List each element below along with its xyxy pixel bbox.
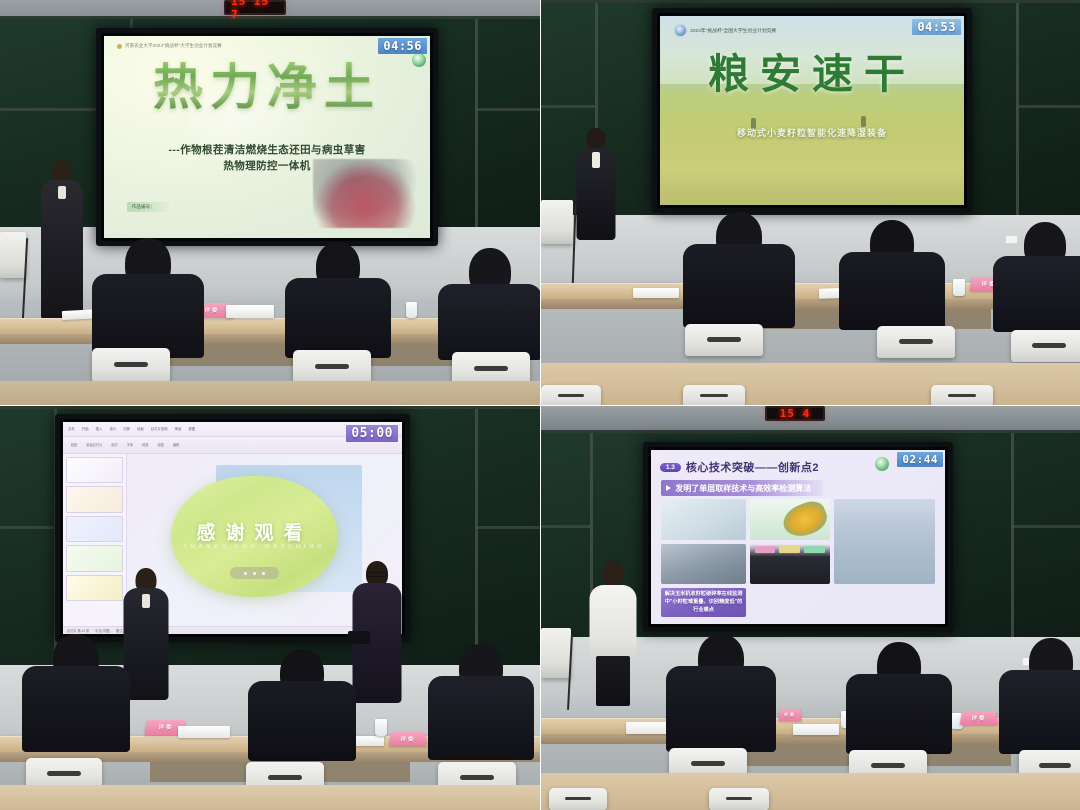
projection-screen: 1.3 核心技术突破——创新点2 发明了单层取样技术与高效率检测算法: [643, 442, 953, 632]
ppt-ribbon-item-2[interactable]: 版式: [111, 442, 117, 447]
countdown-timer: 05:00: [346, 425, 398, 442]
countdown-timer-value: 04:56: [383, 39, 422, 53]
presenter-collar: [142, 594, 150, 608]
slide-image-machine-detail: [661, 544, 745, 585]
presenter-body: [41, 180, 83, 320]
wall-clock-value: 15 15 7: [231, 0, 279, 21]
slide-thumbnail[interactable]: [66, 457, 123, 484]
presenter-body: [590, 585, 637, 661]
documents-stack-2: [793, 724, 839, 735]
slide-content: 2024年"挑战杯"全国大学生创业计划竞赛 粮安速干 移动式小麦籽粒智能化速降湿…: [660, 16, 964, 205]
color-swatch-row: [755, 546, 826, 553]
work-code-badge: 作品编号：: [127, 202, 169, 212]
audience-body: [993, 256, 1080, 332]
slide-header: 1.3 核心技术突破——创新点2: [660, 457, 936, 478]
pill-dot-icon: [262, 572, 265, 575]
judge-name-card-text: 评委: [158, 723, 174, 730]
ppt-status-notes[interactable]: 备注: [116, 628, 122, 633]
slide-subtitle-line1: ---作物根茬清洁燃烧生态还田与病虫草害: [124, 143, 411, 159]
slide-bullet-banner: 发明了单层取样技术与高效率检测算法: [661, 480, 823, 496]
ppt-menu-item-6[interactable]: 幻灯片放映: [151, 426, 168, 431]
slide-thumbnail[interactable]: [66, 486, 123, 513]
chair-front-1: [549, 788, 607, 810]
countdown-timer-value: 05:00: [351, 426, 393, 441]
slide-title: 核心技术突破——创新点2: [686, 459, 819, 475]
machine-photo: [313, 159, 417, 228]
slide-thumbnail[interactable]: [66, 575, 123, 602]
chair-3: [1011, 330, 1080, 362]
countdown-timer: 04:56: [378, 38, 427, 54]
ppt-menu-item-5[interactable]: 动画: [137, 426, 144, 431]
ppt-menu-item-4[interactable]: 切换: [123, 426, 130, 431]
slide-image-corn-sample: [750, 499, 830, 540]
audience-member-1: [666, 634, 776, 752]
slide-header-text: 2024年"挑战杯"全国大学生创业计划竞赛: [690, 27, 776, 34]
front-desk-surface: [0, 785, 540, 810]
ppt-ribbon-item-3[interactable]: 字体: [127, 442, 133, 447]
audience-member-1: [683, 212, 795, 328]
audience-body: [839, 252, 945, 330]
presenter-female: [40, 160, 84, 320]
ppt-status-language: 中文(中国): [95, 628, 110, 633]
decorative-pill: [230, 567, 279, 579]
audience-body: [248, 681, 356, 761]
presenter-female: [589, 561, 637, 706]
corn-cob-illustration: [779, 499, 831, 540]
audience-body: [666, 666, 776, 752]
ppt-ribbon-item-5[interactable]: 绘图: [157, 442, 163, 447]
thank-you-card: 感谢观看 THANKS FOR WATCHING: [163, 471, 366, 608]
slide-title: 热力净土: [124, 62, 411, 112]
competition-emblem-icon: [675, 25, 686, 36]
presenter-head: [603, 561, 624, 586]
handheld-device: [348, 631, 370, 644]
judge-name-card-text: 评委: [204, 306, 220, 313]
slide-thumbnail[interactable]: [66, 545, 123, 572]
chair-1: [685, 324, 763, 356]
pill-dot-icon: [253, 572, 256, 575]
paper-cup: [375, 719, 387, 736]
podium: [0, 232, 26, 278]
wall-clock-value: 15 4: [780, 407, 811, 420]
ppt-menu-item-3[interactable]: 设计: [109, 426, 116, 431]
judge-name-card-pink: 评委: [778, 709, 801, 721]
countdown-timer: 02:44: [897, 452, 943, 467]
slide-title: 粮安速干: [675, 54, 949, 95]
ppt-ribbon-item-0[interactable]: 粘贴: [71, 442, 77, 447]
ppt-menu-item-8[interactable]: 视图: [188, 426, 195, 431]
audience-body: [285, 278, 391, 358]
panel-1-top-left: 15 15 7 河南农业大学2024"挑战杯"大学生创业计划竞赛 热力净土 --…: [0, 0, 540, 405]
audience-member-2: [248, 649, 356, 761]
presenter-male: [576, 128, 616, 240]
slide-subtitle: 移动式小麦籽粒智能化速降湿装备: [684, 126, 939, 139]
audience-member-3: [999, 638, 1080, 754]
ppt-ribbon-item-1[interactable]: 新建幻灯片: [86, 442, 102, 447]
presenter-collar: [592, 152, 600, 168]
podium: [541, 200, 573, 244]
ppt-menu-item-7[interactable]: 审阅: [175, 426, 182, 431]
projection-screen: 2024年"挑战杯"全国大学生创业计划竞赛 粮安速干 移动式小麦籽粒智能化速降湿…: [652, 8, 972, 213]
audience-member-3: [428, 644, 534, 760]
front-desk-row: [0, 381, 540, 405]
chair-front-2: [709, 788, 769, 810]
slide-content: 1.3 核心技术突破——创新点2 发明了单层取样技术与高效率检测算法: [651, 450, 945, 624]
judge-name-card-text: 评委: [400, 735, 416, 742]
thank-you-title: 感谢观看: [175, 518, 333, 545]
slide-thumbnail[interactable]: [66, 516, 123, 543]
documents-stack: [178, 726, 230, 738]
chair-front-3: [931, 385, 993, 405]
presenter-trousers: [596, 656, 630, 706]
thank-you-subtitle: THANKS FOR WATCHING: [175, 544, 333, 550]
countdown-timer-value: 02:44: [902, 453, 938, 466]
audience-body: [92, 274, 204, 358]
slide-header: 2024年"挑战杯"全国大学生创业计划竞赛: [675, 25, 776, 36]
podium: [541, 628, 571, 678]
chair-front-2: [683, 385, 745, 405]
university-emblem-icon: [412, 53, 426, 67]
ppt-ribbon-item-4[interactable]: 段落: [142, 442, 148, 447]
slide-callout-text: 解决玉米机收籽粒破碎率在线监测中"小籽粒难重叠、识别精度低"的行业痛点: [664, 591, 742, 614]
judge-name-card: 评委: [960, 711, 999, 725]
projection-screen: 河南农业大学2024"挑战杯"大学生创业计划竞赛 热力净土 ---作物根茬清洁燃…: [96, 28, 438, 246]
audience-member-3: [993, 222, 1080, 332]
countdown-timer-value: 04:53: [917, 20, 956, 34]
countdown-timer: 04:53: [912, 19, 961, 35]
audience-body: [846, 674, 952, 754]
glasses-icon: [367, 572, 387, 577]
wheat-field-photo: [660, 84, 964, 205]
documents-stack: [226, 305, 274, 318]
audience-member-2: [839, 220, 945, 330]
chair-front-1: [541, 385, 601, 405]
triangle-bullet-icon: [666, 485, 671, 491]
wall-led-clock: 15 4: [765, 406, 825, 421]
presenter-collar: [58, 186, 66, 199]
audience-body: [999, 670, 1080, 754]
front-desk-surface: [541, 363, 1080, 405]
ppt-ribbon-item-6[interactable]: 编辑: [173, 442, 179, 447]
slide-callout-box: 解决玉米机收籽粒破碎率在线监测中"小籽粒难重叠、识别精度低"的行业痛点: [661, 588, 745, 617]
ppt-slide-thumbnail-pane[interactable]: [63, 454, 127, 626]
presenter-male: [352, 561, 402, 703]
judge-name-card-text: 评委: [971, 714, 987, 721]
slide-image-harvest-field: [834, 499, 935, 585]
audience-member-3: [438, 248, 540, 360]
paper-cup-2: [953, 279, 965, 296]
slide-header-text: 河南农业大学2024"挑战杯"大学生创业计划竞赛: [125, 43, 222, 49]
audience-member-2: [846, 642, 952, 754]
front-desk-surface: [541, 773, 1080, 810]
ppt-menu-item-2[interactable]: 插入: [96, 426, 103, 431]
slide-image-grid: 解决玉米机收籽粒破碎率在线监测中"小籽粒难重叠、识别精度低"的行业痛点: [661, 499, 934, 617]
slide-image-equipment: [661, 499, 745, 540]
chair-1: [92, 348, 170, 382]
audience-member-2: [285, 242, 391, 358]
slide-bullet-text: 发明了单层取样技术与高效率检测算法: [675, 483, 811, 494]
ppt-menu-item-0[interactable]: 文件: [68, 426, 75, 431]
panel-2-top-right: 2024年"挑战杯"全国大学生创业计划竞赛 粮安速干 移动式小麦籽粒智能化速降湿…: [541, 0, 1080, 405]
ppt-status-slide: 幻灯片 第 12 张: [67, 628, 89, 633]
photo-collage-grid: 15 15 7 河南农业大学2024"挑战杯"大学生创业计划竞赛 热力净土 --…: [0, 0, 1080, 810]
audience-body: [22, 666, 130, 752]
audience-body: [438, 284, 540, 360]
pill-dot-icon: [244, 572, 247, 575]
section-number-badge: 1.3: [660, 463, 681, 472]
chair-2: [877, 326, 955, 358]
documents-stack: [633, 288, 679, 298]
ppt-menu-item-1[interactable]: 开始: [82, 426, 89, 431]
university-emblem-icon: [875, 457, 889, 471]
chair-2: [293, 350, 371, 384]
judge-name-card-2: 评委: [389, 732, 428, 746]
audience-body: [428, 676, 534, 760]
audience-member-1: [22, 634, 130, 752]
panel-4-bottom-right: 15 4 1.3 核心技术突破——创新点2 发明了单层取样技术与高效率检测算法: [541, 406, 1080, 810]
bullet-dot-icon: [117, 44, 122, 49]
audience-body: [683, 244, 795, 328]
wall-led-clock: 15 15 7: [224, 0, 286, 15]
presenter-head: [587, 128, 606, 150]
judge-name-card-text: 评委: [784, 712, 796, 718]
slide-header: 河南农业大学2024"挑战杯"大学生创业计划竞赛: [117, 43, 358, 49]
audience-member-1: [92, 238, 204, 358]
panel-3-bottom-left: 文件 开始 插入 设计 切换 动画 幻灯片放映 审阅 视图 粘贴 新建幻灯片 版…: [0, 406, 540, 810]
paper-cup: [406, 302, 417, 318]
slide-image-detection-output: [750, 544, 830, 585]
slide-content: 河南农业大学2024"挑战杯"大学生创业计划竞赛 热力净土 ---作物根茬清洁燃…: [104, 36, 430, 238]
